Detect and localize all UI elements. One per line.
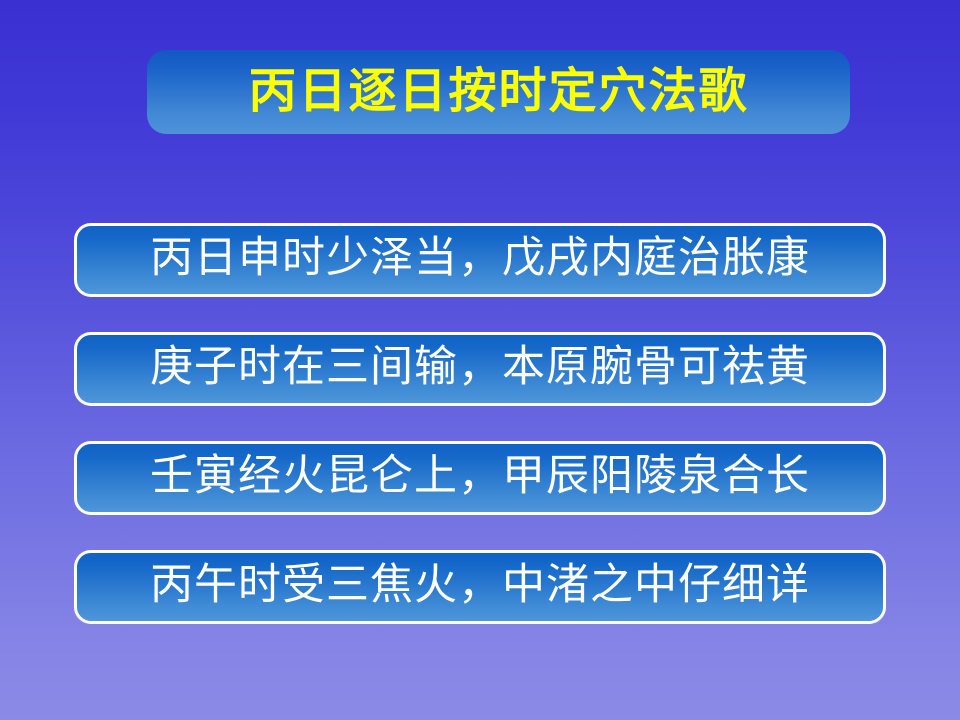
verse-text-3: 壬寅经火昆仑上，甲辰阳陵泉合长 (150, 455, 810, 498)
verse-box-3: 壬寅经火昆仑上，甲辰阳陵泉合长 (74, 441, 886, 515)
verse-text-1: 丙日申时少泽当，戊戌内庭治胀康 (150, 237, 810, 280)
slide-canvas: 丙日逐日按时定穴法歌 丙日申时少泽当，戊戌内庭治胀康 庚子时在三间输，本原腕骨可… (0, 0, 960, 720)
verse-box-4: 丙午时受三焦火，中渚之中仔细详 (74, 550, 886, 624)
title-banner: 丙日逐日按时定穴法歌 (147, 50, 850, 134)
verse-box-2: 庚子时在三间输，本原腕骨可祛黄 (74, 332, 886, 406)
page-title: 丙日逐日按时定穴法歌 (248, 67, 748, 115)
verse-text-4: 丙午时受三焦火，中渚之中仔细详 (150, 564, 810, 607)
verse-list: 丙日申时少泽当，戊戌内庭治胀康 庚子时在三间输，本原腕骨可祛黄 壬寅经火昆仑上，… (74, 223, 886, 624)
verse-box-1: 丙日申时少泽当，戊戌内庭治胀康 (74, 223, 886, 297)
verse-text-2: 庚子时在三间输，本原腕骨可祛黄 (150, 346, 810, 389)
